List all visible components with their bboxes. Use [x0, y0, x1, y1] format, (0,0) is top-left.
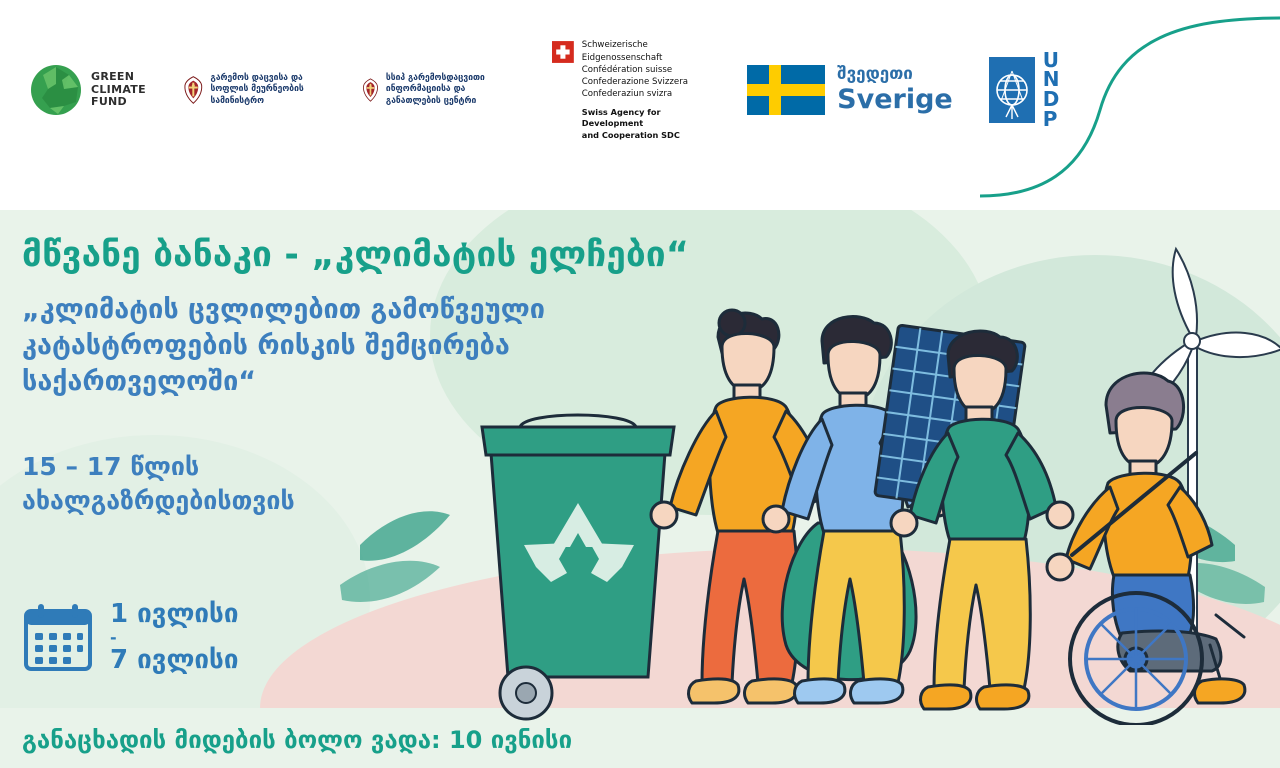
logo-environmental-info-education-center: სსიპ გარემოსდაცვითი ინფორმაციისა და განა… — [361, 61, 510, 119]
poster-root: მწვანე ბანაკი - „კლიმატის ელჩები“ „კლიმა… — [0, 0, 1280, 768]
poster-title: მწვანე ბანაკი - „კლიმატის ელჩები“ — [22, 235, 689, 275]
poster-subtitle: „კლიმატის ცვლილებით გამოწვეული კატასტროფ… — [22, 292, 702, 400]
green-wheelie-bin — [482, 415, 674, 719]
swiss-cross-icon — [552, 39, 574, 65]
nea-name: სსიპ გარემოსდაცვითი ინფორმაციისა და განა… — [386, 73, 510, 107]
gcf-line-1: GREEN — [91, 71, 146, 84]
sweden-line-1: შვედეთი — [837, 66, 953, 83]
ministry-name: გარემოს დაცვისა და სოფლის მეურნეობის სამ… — [211, 73, 331, 107]
leaf-decor-left — [340, 511, 450, 602]
swiss-line-3: Confederazione Svizzera — [582, 76, 707, 88]
sweden-line-2: Sverige — [837, 85, 953, 115]
swiss-line-4: Confederaziun svizra — [582, 88, 707, 100]
logo-ministry-environment-agriculture: გარემოს დაცვისა და სოფლის მეურნეობის სამ… — [182, 59, 331, 121]
age-range-line1: 15 – 17 წლის — [22, 450, 482, 484]
undp-wordmark: U N D P — [1043, 51, 1060, 129]
sdc-line-2: and Cooperation SDC — [582, 130, 707, 141]
undp-letter-p: P — [1043, 110, 1060, 130]
date-to: 7 ივლისი — [110, 646, 238, 675]
age-range-line2: ახალგაზრდებისთვის — [22, 484, 482, 518]
dates-text: 1 ივლისი - 7 ივლისი — [110, 600, 238, 675]
calendar-icon — [22, 601, 94, 673]
georgia-coat-of-arms-icon — [361, 61, 380, 119]
logo-undp: U N D P — [989, 51, 1060, 129]
age-range-text: 15 – 17 წლის ახალგაზრდებისთვის — [22, 450, 482, 518]
georgia-coat-of-arms-icon — [182, 59, 205, 121]
gcf-wordmark: GREEN CLIMATE FUND — [91, 71, 146, 110]
undp-logo-icon — [989, 57, 1035, 123]
sweden-flag-icon — [747, 65, 825, 115]
logo-swiss-confederation: Schweizerische Eidgenossenschaft Confédé… — [552, 39, 707, 140]
logo-row: GREEN CLIMATE FUND გარემოს დაცვისა და სო… — [0, 0, 1060, 180]
green-climate-fund-globe-icon — [28, 62, 84, 118]
date-dash: - — [110, 629, 238, 647]
application-deadline: განაცხადის მიდების ბოლო ვადა: 10 ივნისი — [22, 726, 572, 754]
swiss-line-2: Confédération suisse — [582, 64, 707, 76]
swiss-wordmark: Schweizerische Eidgenossenschaft Confédé… — [582, 39, 707, 140]
gcf-line-3: FUND — [91, 96, 146, 109]
sweden-wordmark: შვედეთი Sverige — [837, 66, 953, 115]
date-from: 1 ივლისი — [110, 600, 238, 629]
dates-block: 1 ივლისი - 7 ივლისი — [22, 600, 238, 675]
sdc-line-1: Swiss Agency for Development — [582, 107, 707, 129]
logo-green-climate-fund: GREEN CLIMATE FUND — [28, 62, 146, 118]
logo-sweden: შვედეთი Sverige — [747, 65, 953, 115]
swiss-line-1: Schweizerische Eidgenossenschaft — [582, 39, 707, 63]
